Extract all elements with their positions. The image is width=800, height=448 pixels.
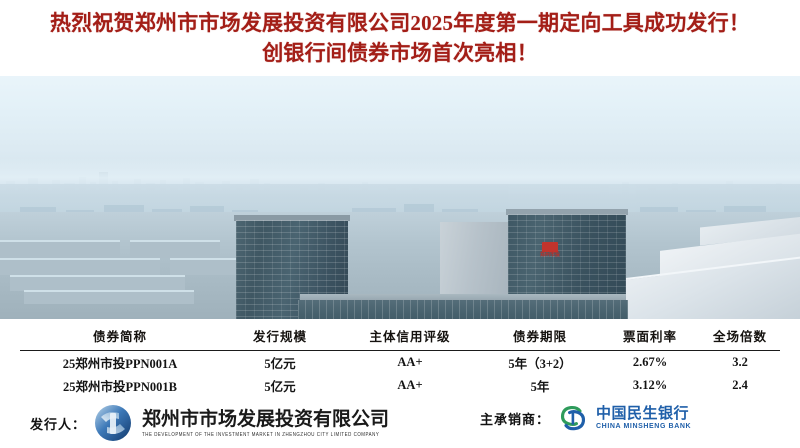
left-residential-blocks	[0, 240, 235, 300]
hero-photo: 郑州市投	[0, 72, 800, 319]
column-header-bond-name: 债券简称	[20, 319, 220, 351]
column-header-coupon-rate: 票面利率	[600, 319, 700, 351]
column-header-bid-multiple: 全场倍数	[700, 319, 780, 351]
cell-bid-multiple: 2.4	[700, 374, 780, 397]
column-header-tenor: 债券期限	[480, 319, 600, 351]
building-logo-text: 郑州市投	[537, 252, 563, 259]
issuer-label: 发行人：	[30, 414, 86, 433]
issuer-block: 发行人：	[30, 404, 389, 442]
footer-bar: 发行人：	[0, 396, 800, 448]
bond-details-table-container: 债券简称 发行规模 主体信用评级 债券期限 票面利率 全场倍数 25郑州市投PP…	[0, 319, 800, 395]
underwriter-block: 主承销商： 中国民生银行 CHINA MINSHENG BANK	[480, 404, 691, 432]
bond-issuance-poster: 热烈祝贺郑州市市场发展投资有限公司2025年度第一期定向工具成功发行！ 创银行间…	[0, 0, 800, 448]
underwriter-name-block: 中国民生银行 CHINA MINSHENG BANK	[596, 406, 691, 430]
table-row: 25郑州市投PPN001A 5亿元 AA+ 5年（3+2） 2.67% 3.2	[20, 351, 780, 375]
issuer-name-en: THE DEVELOPMENT OF THE INVESTMENT MARKET…	[142, 432, 389, 438]
cell-bond-name: 25郑州市投PPN001A	[20, 351, 220, 375]
issuer-logo-icon	[94, 404, 134, 442]
cell-bid-multiple: 3.2	[700, 351, 780, 375]
tower-roof-cap	[234, 215, 350, 221]
underwriter-name-cn: 中国民生银行	[596, 406, 691, 421]
underwriter-name-en: CHINA MINSHENG BANK	[596, 423, 691, 430]
tower-roof-cap	[506, 209, 628, 215]
cell-credit-rating: AA+	[340, 351, 480, 375]
cell-tenor: 5年	[480, 374, 600, 397]
headline-line-2: 创银行间债券市场首次亮相！	[262, 38, 538, 68]
cell-issue-size: 5亿元	[220, 374, 340, 397]
issuer-name-cn: 郑州市市场发展投资有限公司	[142, 410, 389, 429]
column-header-issue-size: 发行规模	[220, 319, 340, 351]
bond-details-table: 债券简称 发行规模 主体信用评级 债券期限 票面利率 全场倍数 25郑州市投PP…	[20, 319, 780, 397]
column-header-credit-rating: 主体信用评级	[340, 319, 480, 351]
building-logo-sign: 郑州市投	[537, 242, 563, 264]
podium-facade	[298, 300, 628, 319]
minsheng-bank-logo-icon	[558, 404, 588, 432]
cell-coupon-rate: 3.12%	[600, 374, 700, 397]
cell-issue-size: 5亿元	[220, 351, 340, 375]
building-logo-mark	[542, 242, 558, 252]
cell-credit-rating: AA+	[340, 374, 480, 397]
cell-bond-name: 25郑州市投PPN001B	[20, 374, 220, 397]
headline-line-1: 热烈祝贺郑州市市场发展投资有限公司2025年度第一期定向工具成功发行！	[50, 8, 750, 38]
table-row: 25郑州市投PPN001B 5亿元 AA+ 5年 3.12% 2.4	[20, 374, 780, 397]
cell-coupon-rate: 2.67%	[600, 351, 700, 375]
cell-tenor: 5年（3+2）	[480, 351, 600, 375]
underwriter-label: 主承销商：	[480, 409, 550, 428]
table-header-row: 债券简称 发行规模 主体信用评级 债券期限 票面利率 全场倍数	[20, 319, 780, 351]
issuer-name-block: 郑州市市场发展投资有限公司 THE DEVELOPMENT OF THE INV…	[142, 410, 389, 436]
headline-banner: 热烈祝贺郑州市市场发展投资有限公司2025年度第一期定向工具成功发行！ 创银行间…	[0, 0, 800, 76]
